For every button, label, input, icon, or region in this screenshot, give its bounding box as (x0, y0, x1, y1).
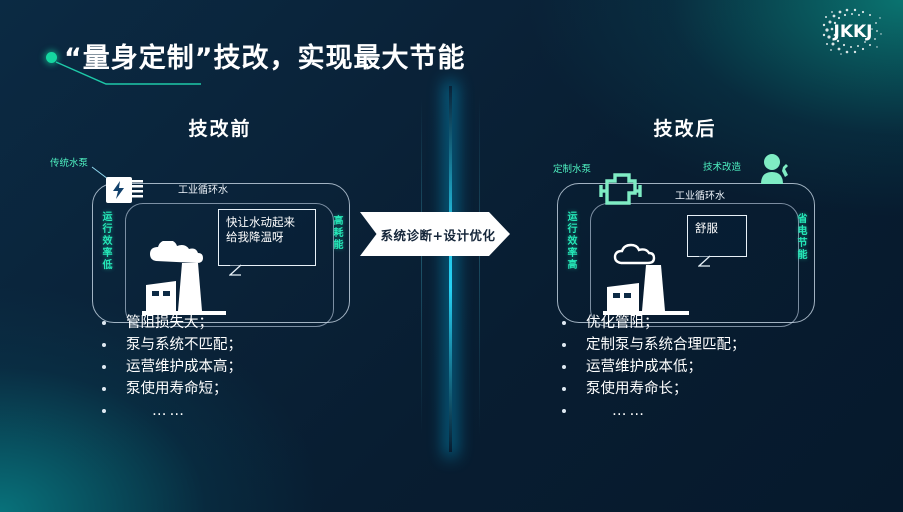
after-person-label: 技术改造 (703, 159, 741, 173)
list-item: …… (100, 400, 242, 422)
before-pump-label: 传统水泵 (50, 155, 88, 169)
diagram-after: 定制水泵 工业循环水 技术改造 运行效率高 (535, 155, 835, 325)
list-item: 泵与系统不匹配； (100, 334, 242, 356)
center-glow-divider (449, 86, 452, 452)
after-bullet-list: 优化管阻； 定制泵与系统合理匹配； 运营维护成本低； 泵使用寿命长； …… (560, 312, 746, 422)
electric-motor-icon (103, 173, 149, 207)
before-bubble-tail (229, 264, 243, 276)
center-glow-line-right (479, 96, 480, 436)
logo-wordmark: JKKJ (833, 22, 873, 42)
title-text: “量身定制”技改，实现最大节能 (64, 36, 466, 75)
list-item: 泵使用寿命短； (100, 378, 242, 400)
list-item: 运营维护成本高； (100, 356, 242, 378)
list-item: 优化管阻； (560, 312, 746, 334)
list-item: 运营维护成本低； (560, 356, 746, 378)
factory-clean-icon (601, 241, 693, 319)
after-speech-bubble: 舒服 (687, 215, 747, 257)
panel-before-heading: 技改前 (55, 112, 385, 141)
before-left-vertical-label: 运行效率低 (98, 211, 113, 271)
process-arrow-banner: 系统诊断+设计优化 (360, 212, 510, 256)
after-right-vertical-label: 省电节能 (793, 213, 808, 261)
before-water-label: 工业循环水 (178, 181, 228, 196)
factory-smoke-icon (138, 241, 230, 319)
panel-after-heading: 技改后 (520, 112, 850, 141)
brand-logo: JKKJ (813, 4, 889, 56)
center-glow-line-left (421, 96, 422, 436)
after-bubble-tail (698, 255, 712, 267)
diagram-before: 传统水泵 工业循环水 运行效率低 高耗能 (70, 155, 370, 325)
after-pump-label: 定制水泵 (553, 161, 591, 175)
before-bullet-list: 管阻损失大； 泵与系统不匹配； 运营维护成本高； 泵使用寿命短； …… (100, 312, 242, 422)
custom-pump-icon (595, 165, 647, 211)
process-arrow-label: 系统诊断+设计优化 (375, 225, 496, 244)
list-item: …… (560, 400, 746, 422)
list-item: 泵使用寿命长； (560, 378, 746, 400)
panel-after: 技改后 定制水泵 工业循环水 技术改造 (520, 112, 850, 432)
slide-canvas: JKKJ “量身定制”技改，实现最大节能 技改前 传统水泵 (0, 0, 903, 512)
list-item: 管阻损失大； (100, 312, 242, 334)
engineer-wrench-icon (757, 153, 791, 189)
before-speech-bubble: 快让水动起来 给我降温呀 (218, 209, 316, 266)
panel-before: 技改前 传统水泵 工业循环水 运行效率低 高耗能 (55, 112, 385, 432)
after-left-vertical-label: 运行效率高 (563, 211, 578, 271)
after-water-label: 工业循环水 (675, 187, 725, 202)
before-right-vertical-label: 高耗能 (329, 215, 344, 251)
list-item: 定制泵与系统合理匹配； (560, 334, 746, 356)
